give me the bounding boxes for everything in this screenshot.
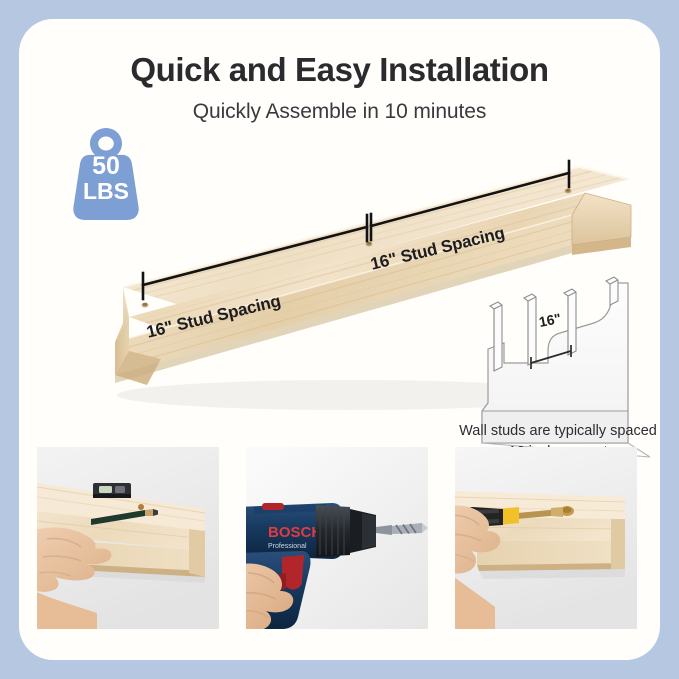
content-card: Quick and Easy Installation Quickly Asse… xyxy=(19,19,660,660)
step-photo-screw xyxy=(455,447,637,629)
drill-brand-label: BOSCH xyxy=(268,524,322,541)
stud-post-4 xyxy=(606,277,618,305)
infographic-frame: Quick and Easy Installation Quickly Asse… xyxy=(0,0,679,679)
install-steps-photo-strip: BOSCH Professional xyxy=(37,447,641,629)
shelf-right-end xyxy=(572,193,631,255)
stud-measure-label: 16" xyxy=(538,310,563,330)
bubble-level-icon xyxy=(93,483,131,498)
step-photo-level xyxy=(37,447,219,629)
step-photo-drill: BOSCH Professional xyxy=(246,447,428,629)
stud-post-2 xyxy=(524,294,536,365)
page-subtitle: Quickly Assemble in 10 minutes xyxy=(19,100,660,124)
drill-brand-sub: Professional xyxy=(268,543,307,550)
page-title: Quick and Easy Installation xyxy=(19,51,660,89)
